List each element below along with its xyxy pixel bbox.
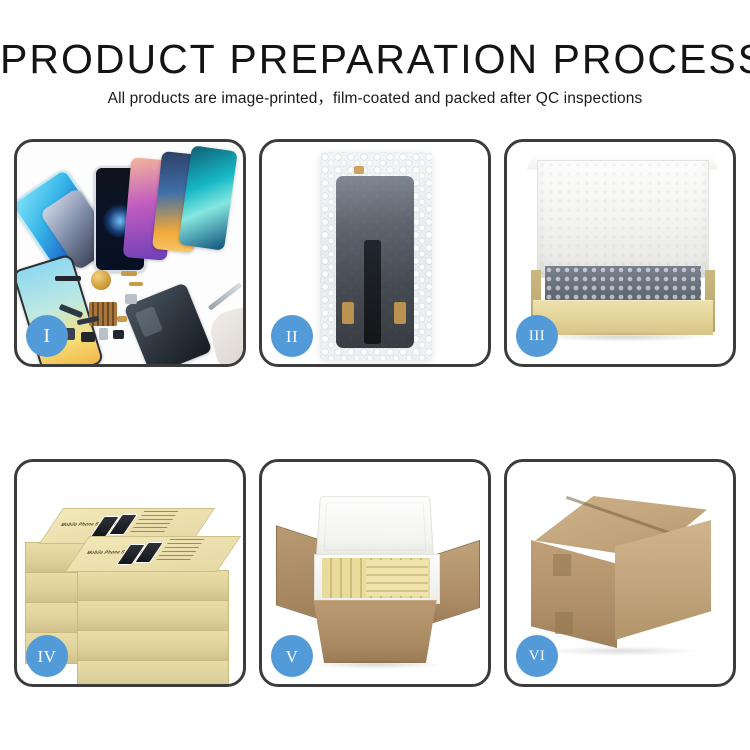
part-bracket-1	[125, 294, 137, 304]
stacked-box	[77, 600, 229, 632]
part-sim-tray	[99, 328, 108, 340]
gold-tab-top	[354, 166, 364, 174]
panel-step-5: V	[259, 459, 491, 687]
part-flex-gold-2	[129, 282, 143, 286]
bubble-wrap-bag	[320, 152, 432, 360]
panel-6-numeral-badge: VI	[516, 635, 558, 677]
tweezers-icon	[208, 282, 243, 311]
page-subtitle: All products are image-printed，film-coat…	[0, 89, 750, 109]
carton-drop-shadow	[310, 660, 442, 669]
panel-3-numeral-badge: III	[516, 315, 558, 357]
gold-connector-right	[394, 302, 406, 324]
part-flex-gold-1	[121, 271, 137, 276]
carton-front-panel	[308, 600, 442, 663]
panel-2-numeral-badge: II	[271, 315, 313, 357]
panel-5-numeral-badge: V	[271, 635, 313, 677]
panel-step-4: Mobile Phone Spare Parts Mobile Phone Sp…	[14, 459, 246, 687]
kraft-box-front-panel	[533, 300, 713, 335]
logic-board-chip	[89, 302, 117, 326]
technician-hand	[206, 305, 243, 364]
panel-step-6: VI	[504, 459, 736, 687]
gold-connector-left	[342, 302, 354, 324]
panel-step-2: II	[259, 139, 491, 367]
carton-tape-upper	[553, 554, 571, 576]
carton-tape-lower	[555, 612, 573, 634]
process-panel-grid: I II	[14, 139, 736, 695]
stacked-box	[77, 570, 229, 602]
box-drop-shadow	[537, 332, 709, 342]
stacked-box	[77, 660, 229, 684]
product-preparation-process-infographic: PRODUCT PREPARATION PROCESS All products…	[0, 0, 750, 750]
part-battery-tab	[81, 332, 95, 342]
stacked-box	[77, 630, 229, 662]
speaker-module-icon	[91, 270, 111, 290]
wrapped-flex-strip	[364, 240, 381, 344]
yellow-boxes-row-2	[366, 560, 428, 596]
bubble-packed-contents	[545, 266, 701, 302]
part-connector-1	[55, 276, 81, 281]
foam-lid-open	[316, 496, 434, 558]
carton-drop-shadow	[543, 646, 699, 656]
white-foam-lid	[537, 160, 709, 278]
panel-step-3: III	[504, 139, 736, 367]
part-button-set	[113, 330, 124, 339]
panel-step-1: I	[14, 139, 246, 367]
page-title: PRODUCT PREPARATION PROCESS	[0, 36, 750, 82]
panel-1-numeral-badge: I	[26, 315, 68, 357]
panel-4-numeral-badge: IV	[26, 635, 68, 677]
part-vibrator	[117, 316, 127, 322]
carton-left-face	[531, 540, 617, 648]
header: PRODUCT PREPARATION PROCESS All products…	[0, 0, 750, 109]
